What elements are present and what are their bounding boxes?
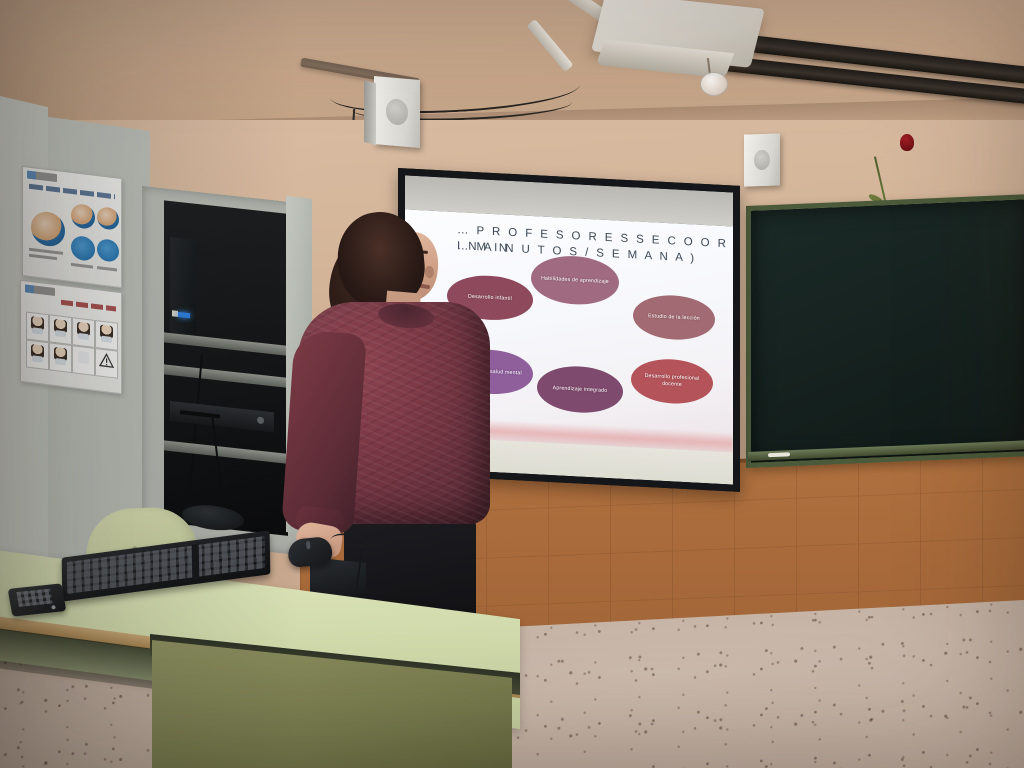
remote-keypad[interactable] xyxy=(16,589,53,607)
poster-heading xyxy=(61,300,116,312)
poster-cell-5 xyxy=(26,339,49,370)
poster-caption-3 xyxy=(71,263,93,269)
poster-illustration-5 xyxy=(97,238,119,263)
poster-illustration-2 xyxy=(71,203,95,230)
amplifier-knob-icon[interactable] xyxy=(257,416,264,424)
presenter-sleeve xyxy=(281,330,367,535)
slide-node-3: Estudio de la lección xyxy=(633,293,715,341)
pc-power-led-icon xyxy=(178,312,190,318)
poster-mask-usage xyxy=(20,280,122,395)
poster-cell-warning xyxy=(95,348,118,379)
poster-logo-icon xyxy=(27,170,57,182)
av-amplifier[interactable] xyxy=(170,401,274,432)
poster-handwashing xyxy=(22,166,122,288)
green-chalkboard xyxy=(746,194,1024,468)
amplifier-display xyxy=(180,410,220,418)
poster-heading xyxy=(29,184,115,200)
poster-caption-4 xyxy=(97,266,117,271)
wall-speaker-right xyxy=(744,133,780,186)
slide-node-6: Desarrollo profesional docente xyxy=(631,357,713,405)
poster-cell-2 xyxy=(49,314,72,345)
av-cabinet-interior xyxy=(164,200,288,535)
speaker-cone-icon xyxy=(386,98,408,126)
chalk-piece-icon xyxy=(768,452,790,457)
poster-cell-3 xyxy=(72,317,95,348)
speaker-cone-icon xyxy=(754,150,770,171)
rose-flower-icon xyxy=(900,134,914,151)
poster-illustration-4 xyxy=(71,235,95,262)
poster-illustration-3 xyxy=(97,206,119,231)
keyboard-keypad-gap xyxy=(192,544,200,579)
cabinet-shelf-2 xyxy=(164,364,288,387)
warning-triangle-icon xyxy=(96,349,117,372)
poster-cell-1 xyxy=(26,311,49,342)
cabinet-shelf-3 xyxy=(164,440,288,463)
poster-cell-6 xyxy=(49,342,72,373)
mouse-scroll-wheel-icon[interactable] xyxy=(306,541,311,549)
slide-node-5: Aprendizaje integrado xyxy=(537,364,623,415)
poster-cell-7 xyxy=(72,345,95,376)
cabinet-cable-1 xyxy=(187,355,203,513)
classroom-photo-scene: … P R O F E S O R E S S E C O O R D I N … xyxy=(0,0,1024,768)
cabinet-shelf-1 xyxy=(164,332,288,355)
remote-led-icon xyxy=(51,605,56,609)
pc-tower[interactable] xyxy=(170,237,196,336)
poster-caption-2 xyxy=(29,254,57,260)
presenter-remote[interactable] xyxy=(8,583,67,616)
lens-cap-icon xyxy=(700,72,728,96)
poster-logo-icon xyxy=(25,284,55,296)
wall-speaker-left xyxy=(374,76,420,148)
poster-illustration-1 xyxy=(31,210,65,248)
poster-cell-4 xyxy=(95,320,118,351)
presenter-nose xyxy=(425,266,434,278)
